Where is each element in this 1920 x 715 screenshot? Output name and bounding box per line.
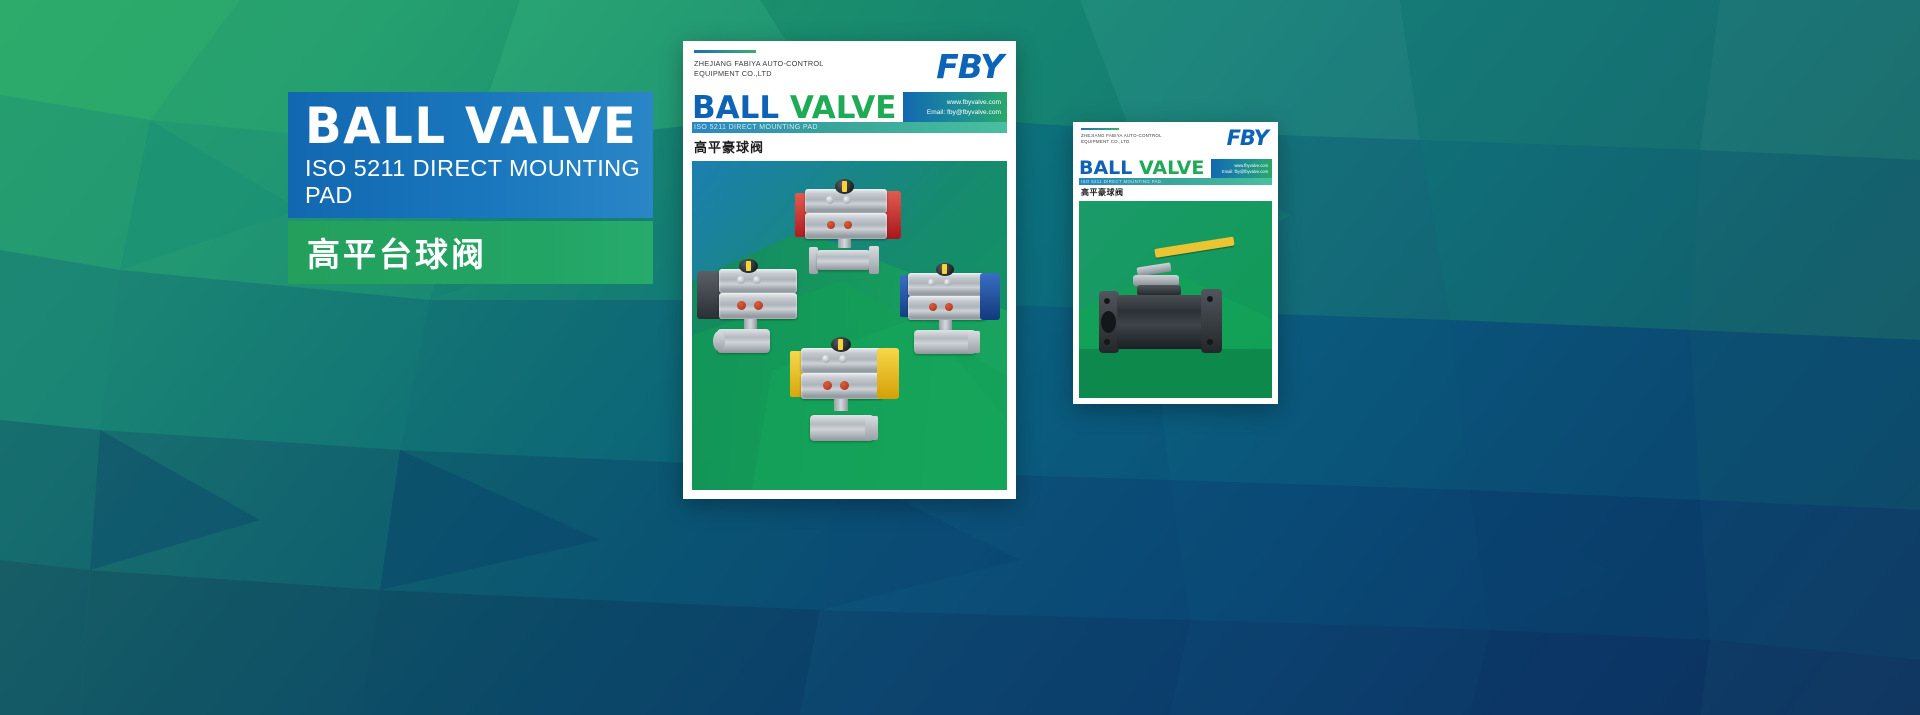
actuator-indicator	[842, 181, 847, 192]
product-banner: BALL VALVE ISO 5211 DIRECT MOUNTING PAD …	[0, 0, 1920, 715]
valve-stem	[838, 239, 851, 248]
cover-title-part1: BALL	[1079, 157, 1139, 179]
valve-yellow	[790, 337, 902, 455]
cover-chinese-title: 高平豪球阀	[692, 133, 1007, 161]
company-name-line1: ZHEJIANG FABIYA AUTO-CONTROL	[1081, 133, 1162, 139]
page-title: BALL VALVE	[305, 102, 677, 151]
actuator-indicator	[746, 261, 751, 271]
valve-end	[968, 331, 980, 353]
company-name-line2: EQUIPMENT CO.,LTD	[694, 69, 824, 79]
actuator-port	[945, 303, 953, 311]
cover-title-part2: VALVE	[1139, 157, 1204, 179]
actuator-indicator	[838, 339, 843, 350]
cover-iso-band: ISO 5211 DIRECT MOUNTING PAD	[692, 122, 1007, 133]
catalog-cover-small: ZHEJIANG FABIYA AUTO-CONTROL EQUIPMENT C…	[1073, 122, 1278, 404]
valve-body	[1117, 295, 1205, 349]
actuator-bolt	[928, 279, 935, 286]
cover-header: ZHEJIANG FABIYA AUTO-CONTROL EQUIPMENT C…	[1079, 128, 1272, 150]
actuator-bolt	[753, 276, 761, 284]
actuator-port	[827, 221, 835, 229]
actuator-bolt	[826, 196, 834, 204]
company-block: ZHEJIANG FABIYA AUTO-CONTROL EQUIPMENT C…	[1079, 128, 1162, 144]
flange-bolt-hole	[1207, 339, 1213, 345]
actuator-port	[929, 303, 937, 311]
cover-title: BALL VALVE	[692, 94, 896, 123]
actuator-bolt	[944, 279, 951, 286]
flange-bolt-hole	[1104, 339, 1110, 345]
cover-title-row: BALL VALVE www.fbyvalve.com Email: fby@f…	[1079, 159, 1272, 178]
cover-iso-band: ISO 5211 DIRECT MOUNTING PAD	[1079, 178, 1272, 185]
actuator-bolt	[737, 276, 745, 284]
actuator-bolt	[843, 196, 851, 204]
company-name-line2: EQUIPMENT CO.,LTD	[1081, 139, 1162, 145]
actuator-port	[737, 301, 746, 310]
valve-end	[865, 416, 878, 440]
flange-bore	[1101, 311, 1116, 333]
actuator-end-cap	[877, 348, 899, 399]
valve-grey	[697, 257, 802, 362]
valve-manual-flanged	[1097, 243, 1247, 368]
valve-stem	[744, 319, 757, 329]
company-block: ZHEJIANG FABIYA AUTO-CONTROL EQUIPMENT C…	[692, 50, 824, 79]
flange-bolt-hole	[1104, 298, 1110, 304]
fby-logo: FBY	[1227, 128, 1272, 150]
flange-bolt-hole	[1207, 296, 1213, 302]
page-subtitle: ISO 5211 DIRECT MOUNTING PAD	[305, 155, 653, 209]
fby-logo: FBY	[936, 50, 1007, 83]
fby-logo-text: FBY	[1227, 128, 1268, 149]
company-name-line1: ZHEJIANG FABIYA AUTO-CONTROL	[694, 59, 824, 69]
cover-product-photo	[692, 161, 1007, 490]
actuator-port	[754, 301, 763, 310]
valve-red	[795, 179, 905, 279]
cover-chinese-title: 高平豪球阀	[1079, 185, 1272, 201]
contact-band: www.fbyvalve.com Email: fby@fbyvalve.com	[1211, 159, 1272, 178]
cover-header: ZHEJIANG FABIYA AUTO-CONTROL EQUIPMENT C…	[692, 50, 1007, 83]
actuator-bolt	[822, 355, 830, 363]
cover-title-part1: BALL	[692, 90, 790, 126]
actuator-end-cap	[697, 271, 721, 319]
contact-band: www.fbyvalve.com Email: fby@fbyvalve.com	[903, 92, 1007, 122]
cover-title-part2: VALVE	[790, 90, 897, 126]
valve-blue	[900, 261, 1004, 366]
actuator-port	[844, 221, 852, 229]
title-blue-bar: BALL VALVE ISO 5211 DIRECT MOUNTING PAD	[288, 92, 653, 218]
valve-body	[914, 330, 976, 354]
valve-stem	[939, 320, 952, 330]
valve-body	[817, 250, 870, 270]
company-rule	[694, 50, 756, 53]
actuator-port	[840, 381, 849, 390]
title-block: BALL VALVE ISO 5211 DIRECT MOUNTING PAD …	[288, 92, 653, 284]
fby-logo-text: FBY	[936, 50, 1003, 83]
cover-title: BALL VALVE	[1079, 160, 1204, 177]
page-title-chinese: 高平台球阀	[307, 228, 653, 276]
actuator-bolt	[839, 355, 847, 363]
actuator-end-cap	[980, 273, 1000, 320]
email-text: Email: fby@fbyvalve.com	[1211, 169, 1268, 175]
valve-port-ring	[713, 331, 725, 351]
actuator-port	[823, 381, 832, 390]
valve-flange	[869, 246, 879, 274]
cover-product-photo	[1079, 201, 1272, 398]
company-rule	[1081, 128, 1119, 130]
cover-title-row: BALL VALVE www.fbyvalve.com Email: fby@f…	[692, 92, 1007, 122]
title-green-bar: 高平台球阀	[288, 221, 653, 284]
catalog-cover-main: ZHEJIANG FABIYA AUTO-CONTROL EQUIPMENT C…	[683, 41, 1016, 499]
email-text: Email: fby@fbyvalve.com	[903, 108, 1001, 118]
valve-stem	[834, 399, 848, 411]
actuator-indicator	[942, 264, 947, 274]
website-text: www.fbyvalve.com	[903, 98, 1001, 108]
